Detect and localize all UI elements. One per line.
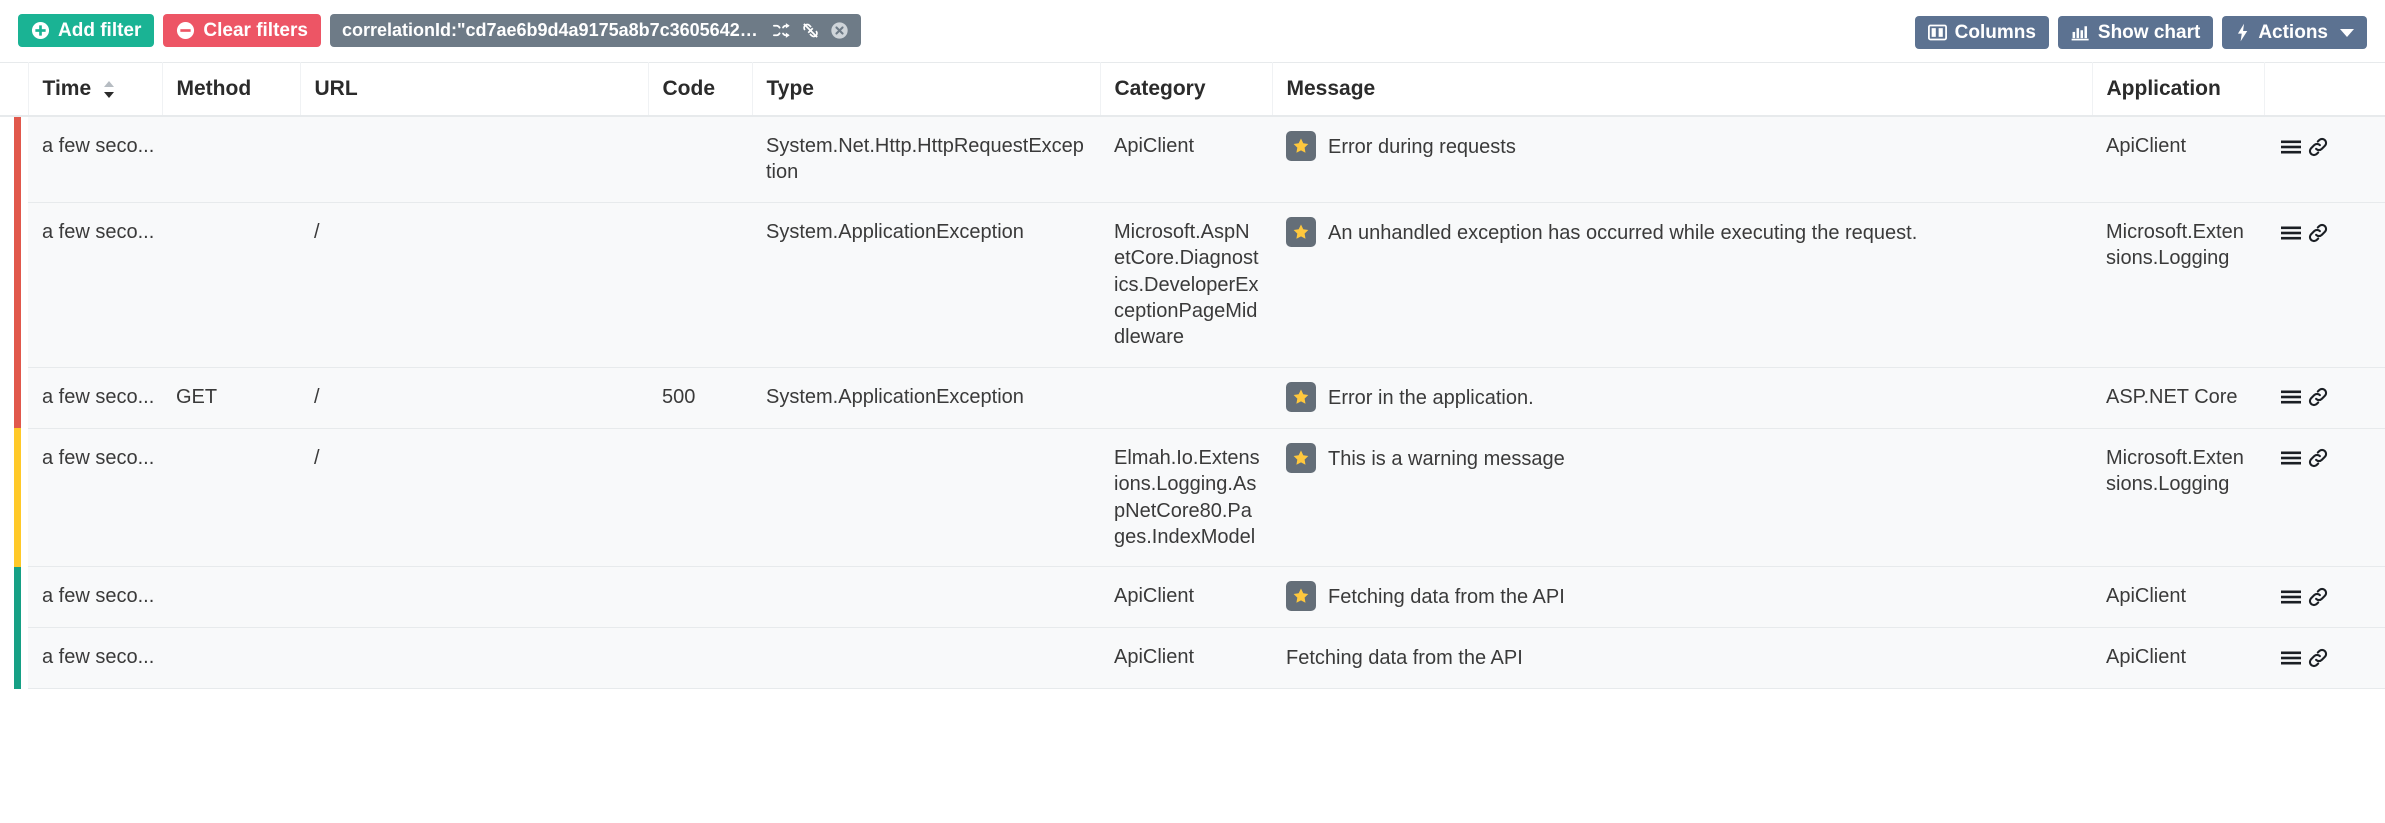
cell-application: ApiClient: [2092, 116, 2264, 202]
show-chart-label: Show chart: [2098, 23, 2200, 42]
column-header-url[interactable]: URL: [300, 63, 648, 117]
clear-filters-button[interactable]: Clear filters: [163, 14, 321, 47]
filter-toolbar-left: Add filter Clear filters correlationId:"…: [18, 14, 861, 47]
severity-bar: [14, 367, 21, 429]
details-icon[interactable]: [2278, 222, 2304, 244]
cell-time: a few seco...: [28, 116, 162, 202]
message-text: An unhandled exception has occurred whil…: [1328, 219, 1917, 246]
column-header-category[interactable]: Category: [1100, 63, 1272, 117]
table-row[interactable]: a few seco...System.Net.Http.HttpRequest…: [0, 116, 2385, 202]
cell-url: [300, 116, 648, 202]
cell-type: [752, 428, 1100, 567]
cell-category: ApiClient: [1100, 116, 1272, 202]
message-text: Error during requests: [1328, 133, 1516, 160]
star-icon[interactable]: [1286, 581, 1316, 611]
cell-url: /: [300, 367, 648, 428]
details-icon[interactable]: [2278, 586, 2304, 608]
cell-code: [648, 202, 752, 367]
filter-toolbar-right: Columns Show chart Actions: [1915, 16, 2367, 49]
severity-bar: [14, 628, 21, 689]
cell-category: [1100, 367, 1272, 428]
plus-circle-icon: [31, 21, 50, 40]
add-filter-label: Add filter: [58, 21, 141, 40]
filter-toolbar: Add filter Clear filters correlationId:"…: [0, 0, 2385, 62]
actions-label: Actions: [2258, 23, 2328, 42]
log-table-body: a few seco...System.Net.Http.HttpRequest…: [0, 116, 2385, 688]
column-header-actions: [2264, 63, 2385, 117]
cell-application: Microsoft.Extensions.Logging: [2092, 202, 2264, 367]
star-icon[interactable]: [1286, 382, 1316, 412]
bolt-icon: [2235, 23, 2250, 42]
cell-message: An unhandled exception has occurred whil…: [1272, 202, 2092, 367]
column-header-method-label: Method: [177, 77, 252, 100]
table-row[interactable]: a few seco...GET/500System.ApplicationEx…: [0, 367, 2385, 428]
cell-category: Microsoft.AspNetCore.Diagnostics.Develop…: [1100, 202, 1272, 367]
cell-code: [648, 116, 752, 202]
active-filter-text: correlationId:"cd7ae6b9d4a9175a8b7c36056…: [342, 20, 762, 41]
column-header-category-label: Category: [1115, 77, 1206, 100]
cell-message: This is a warning message: [1272, 428, 2092, 567]
cell-time: a few seco...: [28, 202, 162, 367]
cell-time: a few seco...: [28, 567, 162, 628]
details-icon[interactable]: [2278, 647, 2304, 669]
star-icon[interactable]: [1286, 443, 1316, 473]
column-header-time[interactable]: Time: [28, 63, 162, 117]
log-table-header: Time Method URL Code Type Category: [0, 63, 2385, 117]
severity-bar-cell: [0, 628, 28, 688]
column-header-code-label: Code: [663, 77, 716, 100]
cell-method: [162, 202, 300, 367]
cell-actions: [2264, 428, 2385, 567]
cell-message: Error during requests: [1272, 116, 2092, 202]
link-icon[interactable]: [2306, 385, 2330, 409]
unlink-icon[interactable]: [801, 21, 820, 40]
link-icon[interactable]: [2306, 135, 2330, 159]
clear-filters-label: Clear filters: [203, 21, 308, 40]
cell-code: [648, 567, 752, 628]
cell-method: [162, 567, 300, 628]
header-spacer: [0, 63, 28, 117]
link-icon[interactable]: [2306, 646, 2330, 670]
cell-category: ApiClient: [1100, 567, 1272, 628]
cell-application: ApiClient: [2092, 567, 2264, 628]
table-row[interactable]: a few seco...ApiClientFetching data from…: [0, 628, 2385, 688]
cell-url: [300, 628, 648, 688]
cell-type: System.ApplicationException: [752, 367, 1100, 428]
link-icon[interactable]: [2306, 585, 2330, 609]
column-header-application[interactable]: Application: [2092, 63, 2264, 117]
header-row: Time Method URL Code Type Category: [0, 63, 2385, 117]
cell-method: [162, 628, 300, 688]
cell-message: Error in the application.: [1272, 367, 2092, 428]
log-table-container: Time Method URL Code Type Category: [0, 62, 2385, 689]
show-chart-button[interactable]: Show chart: [2058, 16, 2213, 49]
cell-method: [162, 428, 300, 567]
cell-application: ApiClient: [2092, 628, 2264, 688]
severity-bar-cell: [0, 567, 28, 628]
column-header-type-label: Type: [767, 77, 814, 100]
cell-actions: [2264, 202, 2385, 367]
column-header-message[interactable]: Message: [1272, 63, 2092, 117]
cell-code: [648, 428, 752, 567]
bar-chart-icon: [2071, 24, 2090, 41]
cell-application: ASP.NET Core: [2092, 367, 2264, 428]
active-filter-badge[interactable]: correlationId:"cd7ae6b9d4a9175a8b7c36056…: [330, 14, 861, 47]
column-header-type[interactable]: Type: [752, 63, 1100, 117]
minus-circle-icon: [176, 21, 195, 40]
table-row[interactable]: a few seco.../System.ApplicationExceptio…: [0, 202, 2385, 367]
column-header-method[interactable]: Method: [162, 63, 300, 117]
message-text: Error in the application.: [1328, 384, 1534, 411]
log-table: Time Method URL Code Type Category: [0, 62, 2385, 689]
star-icon[interactable]: [1286, 131, 1316, 161]
shuffle-icon[interactable]: [772, 21, 791, 40]
details-icon[interactable]: [2278, 447, 2304, 469]
table-row[interactable]: a few seco.../Elmah.Io.Extensions.Loggin…: [0, 428, 2385, 567]
cell-code: 500: [648, 367, 752, 428]
remove-circle-icon[interactable]: [830, 21, 849, 40]
star-icon[interactable]: [1286, 217, 1316, 247]
cell-time: a few seco...: [28, 628, 162, 688]
cell-category: ApiClient: [1100, 628, 1272, 688]
cell-application: Microsoft.Extensions.Logging: [2092, 428, 2264, 567]
cell-code: [648, 628, 752, 688]
column-header-url-label: URL: [315, 77, 358, 100]
severity-bar-cell: [0, 202, 28, 367]
table-row[interactable]: a few seco...ApiClientFetching data from…: [0, 567, 2385, 628]
cell-type: System.Net.Http.HttpRequestException: [752, 116, 1100, 202]
cell-actions: [2264, 628, 2385, 688]
severity-bar: [14, 567, 21, 629]
message-text: This is a warning message: [1328, 445, 1565, 472]
severity-bar-cell: [0, 116, 28, 202]
severity-bar: [14, 428, 21, 568]
cell-actions: [2264, 116, 2385, 202]
cell-url: /: [300, 202, 648, 367]
severity-bar-cell: [0, 428, 28, 567]
message-text: Fetching data from the API: [1286, 644, 1523, 671]
column-header-code[interactable]: Code: [648, 63, 752, 117]
cell-url: [300, 567, 648, 628]
link-icon[interactable]: [2306, 446, 2330, 470]
cell-time: a few seco...: [28, 367, 162, 428]
sort-icon[interactable]: [104, 81, 114, 98]
columns-button[interactable]: Columns: [1915, 16, 2049, 49]
cell-type: [752, 628, 1100, 688]
cell-message: Fetching data from the API: [1272, 567, 2092, 628]
cell-type: [752, 567, 1100, 628]
cell-message: Fetching data from the API: [1272, 628, 2092, 688]
column-header-message-label: Message: [1287, 77, 1376, 100]
actions-button[interactable]: Actions: [2222, 16, 2367, 49]
cell-url: /: [300, 428, 648, 567]
add-filter-button[interactable]: Add filter: [18, 14, 154, 47]
cell-category: Elmah.Io.Extensions.Logging.AspNetCore80…: [1100, 428, 1272, 567]
columns-icon: [1928, 24, 1947, 41]
severity-bar-cell: [0, 367, 28, 428]
cell-method: GET: [162, 367, 300, 428]
chevron-down-icon: [2340, 29, 2354, 37]
cell-method: [162, 116, 300, 202]
cell-time: a few seco...: [28, 428, 162, 567]
severity-bar: [14, 117, 21, 203]
cell-actions: [2264, 567, 2385, 628]
details-icon[interactable]: [2278, 136, 2304, 158]
severity-bar: [14, 202, 21, 368]
details-icon[interactable]: [2278, 386, 2304, 408]
columns-label: Columns: [1955, 23, 2036, 42]
cell-actions: [2264, 367, 2385, 428]
message-text: Fetching data from the API: [1328, 583, 1565, 610]
link-icon[interactable]: [2306, 221, 2330, 245]
column-header-time-label: Time: [43, 77, 92, 100]
column-header-application-label: Application: [2107, 77, 2221, 100]
cell-type: System.ApplicationException: [752, 202, 1100, 367]
